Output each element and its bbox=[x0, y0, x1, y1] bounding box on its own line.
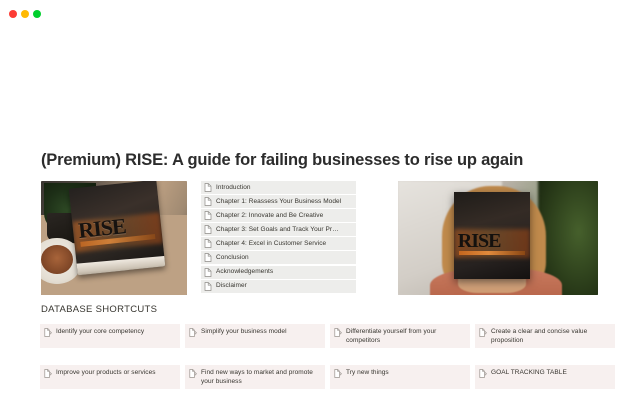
page-icon bbox=[204, 268, 212, 277]
database-shortcuts-grid: Identify your core competency Simplify y… bbox=[40, 324, 600, 389]
database-page-icon bbox=[189, 369, 197, 378]
app-window: (Premium) RISE: A guide for failing busi… bbox=[0, 0, 640, 400]
shortcut-card-goal-tracking-table[interactable]: GOAL TRACKING TABLE bbox=[475, 365, 615, 389]
toc-item-label: Chapter 3: Set Goals and Track Your Pr… bbox=[216, 226, 339, 234]
toc-item-chapter-3[interactable]: Chapter 3: Set Goals and Track Your Pr… bbox=[201, 223, 356, 236]
toc-item-label: Chapter 2: Innovate and Be Creative bbox=[216, 212, 323, 220]
window-titlebar bbox=[0, 0, 640, 30]
shortcut-card-label: GOAL TRACKING TABLE bbox=[491, 368, 567, 377]
shortcut-card-simplify-business-model[interactable]: Simplify your business model bbox=[185, 324, 325, 348]
book-on-table-image: RISE bbox=[41, 181, 187, 295]
database-page-icon bbox=[479, 369, 487, 378]
shortcut-card-label: Identify your core competency bbox=[56, 327, 144, 336]
shortcut-card-value-proposition[interactable]: Create a clear and concise value proposi… bbox=[475, 324, 615, 348]
page-title: (Premium) RISE: A guide for failing busi… bbox=[41, 150, 601, 170]
rise-book-cover: RISE bbox=[69, 181, 165, 275]
toc-item-label: Acknowledgements bbox=[216, 268, 273, 276]
toc-item-label: Introduction bbox=[216, 184, 251, 192]
toc-item-conclusion[interactable]: Conclusion bbox=[201, 251, 356, 264]
page-icon bbox=[204, 282, 212, 291]
shortcut-card-market-and-promote[interactable]: Find new ways to market and promote your… bbox=[185, 365, 325, 389]
page-icon bbox=[204, 197, 212, 206]
toc-item-disclaimer[interactable]: Disclaimer bbox=[201, 280, 356, 293]
minimize-window-button[interactable] bbox=[21, 10, 29, 18]
shortcut-card-improve-products-services[interactable]: Improve your products or services bbox=[40, 365, 180, 389]
person-holding-book-illustration: RISE bbox=[398, 181, 598, 295]
page-icon bbox=[204, 239, 212, 248]
database-page-icon bbox=[189, 328, 197, 337]
database-page-icon bbox=[334, 328, 342, 337]
database-page-icon bbox=[334, 369, 342, 378]
page-icon bbox=[204, 225, 212, 234]
media-and-toc-row: RISE Introduction bbox=[41, 181, 598, 295]
shortcut-card-label: Create a clear and concise value proposi… bbox=[491, 327, 610, 345]
database-page-icon bbox=[479, 328, 487, 337]
person-holding-book-image: RISE bbox=[398, 181, 598, 295]
shortcut-card-label: Find new ways to market and promote your… bbox=[201, 368, 320, 386]
toc-item-introduction[interactable]: Introduction bbox=[201, 181, 356, 194]
toc-item-label: Disclaimer bbox=[216, 282, 247, 290]
rise-book-cover-held: RISE bbox=[454, 192, 530, 279]
shortcut-card-try-new-things[interactable]: Try new things bbox=[330, 365, 470, 389]
database-page-icon bbox=[44, 369, 52, 378]
page-icon bbox=[204, 183, 212, 192]
toc-item-label: Chapter 1: Reassess Your Business Model bbox=[216, 198, 341, 206]
book-cover-banner bbox=[459, 251, 526, 255]
traffic-light-buttons bbox=[9, 10, 41, 18]
page-icon bbox=[204, 211, 212, 220]
toc-item-label: Conclusion bbox=[216, 254, 249, 262]
page-content: (Premium) RISE: A guide for failing busi… bbox=[0, 30, 640, 400]
toc-item-chapter-1[interactable]: Chapter 1: Reassess Your Business Model bbox=[201, 195, 356, 208]
book-cover-title: RISE bbox=[458, 232, 526, 250]
database-page-icon bbox=[44, 328, 52, 337]
toc-item-chapter-2[interactable]: Chapter 2: Innovate and Be Creative bbox=[201, 209, 356, 222]
page-icon bbox=[204, 253, 212, 262]
shortcut-card-label: Try new things bbox=[346, 368, 389, 377]
close-window-button[interactable] bbox=[9, 10, 17, 18]
toc-item-chapter-4[interactable]: Chapter 4: Excel in Customer Service bbox=[201, 237, 356, 250]
zoom-window-button[interactable] bbox=[33, 10, 41, 18]
shortcut-card-differentiate-yourself[interactable]: Differentiate yourself from your competi… bbox=[330, 324, 470, 348]
shortcut-card-label: Simplify your business model bbox=[201, 327, 287, 336]
shortcut-card-identify-core-competency[interactable]: Identify your core competency bbox=[40, 324, 180, 348]
book-on-table-illustration: RISE bbox=[41, 181, 187, 295]
toc-item-label: Chapter 4: Excel in Customer Service bbox=[216, 240, 326, 248]
shortcut-card-label: Improve your products or services bbox=[56, 368, 156, 377]
toc-item-acknowledgements[interactable]: Acknowledgements bbox=[201, 266, 356, 279]
table-of-contents: Introduction Chapter 1: Reassess Your Bu… bbox=[201, 181, 356, 294]
shortcut-card-label: Differentiate yourself from your competi… bbox=[346, 327, 465, 345]
database-shortcuts-heading: DATABASE SHORTCUTS bbox=[41, 304, 157, 315]
